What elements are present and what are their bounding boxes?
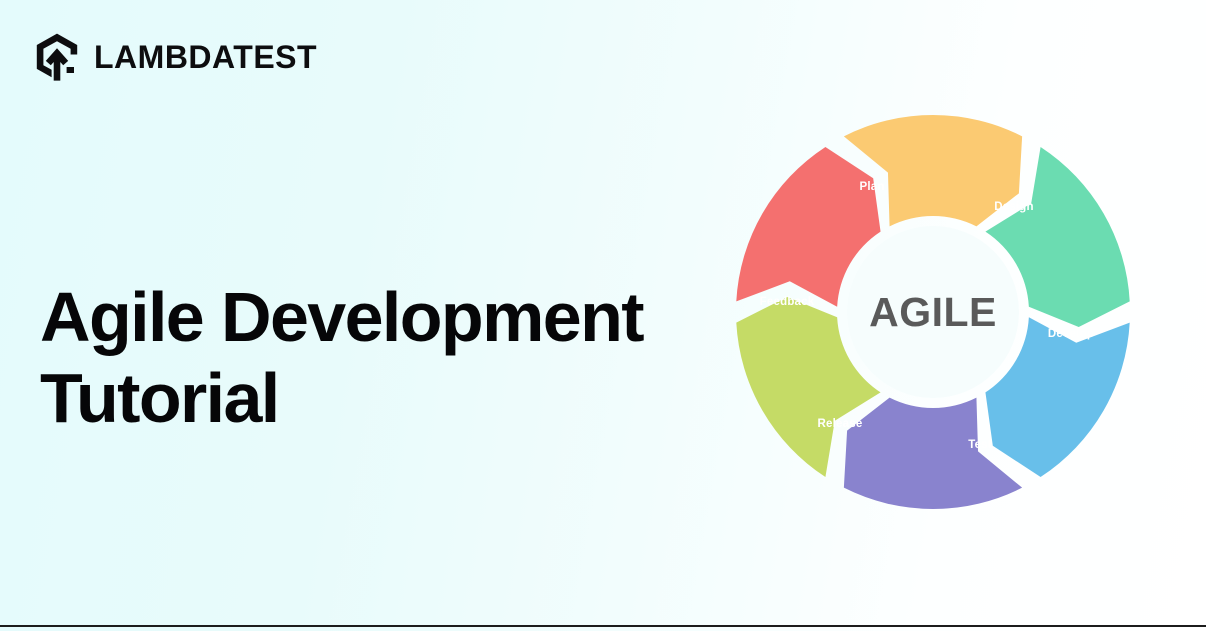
segment-label-test: Test [968,439,992,451]
segment-label-develop: Develop [1048,328,1094,340]
page-title-line-1: Agile Development [40,278,643,356]
page-title-line-2: Tutorial [40,359,279,437]
diagram-center-label: AGILE [869,289,997,335]
segment-label-design: Design [994,201,1034,213]
brand-logo[interactable]: LAMBDATEST [33,31,317,83]
segment-label-release: Release [818,418,863,430]
segment-label-plan: Plan [859,181,884,193]
page-canvas: LAMBDATEST Agile DevelopmentTutorial AGI… [0,0,1206,631]
page-title: Agile DevelopmentTutorial [40,277,700,439]
lambdatest-hexagon-arrow-logo-icon [33,31,81,83]
bottom-divider [0,625,1206,627]
segment-label-feedback: Feedback [760,296,815,308]
agile-cycle-diagram: AGILE PlanDesignDevelopTestReleaseFeedba… [733,112,1133,512]
brand-name: LAMBDATEST [94,41,317,73]
agile-cycle-chart: AGILE PlanDesignDevelopTestReleaseFeedba… [733,112,1133,512]
